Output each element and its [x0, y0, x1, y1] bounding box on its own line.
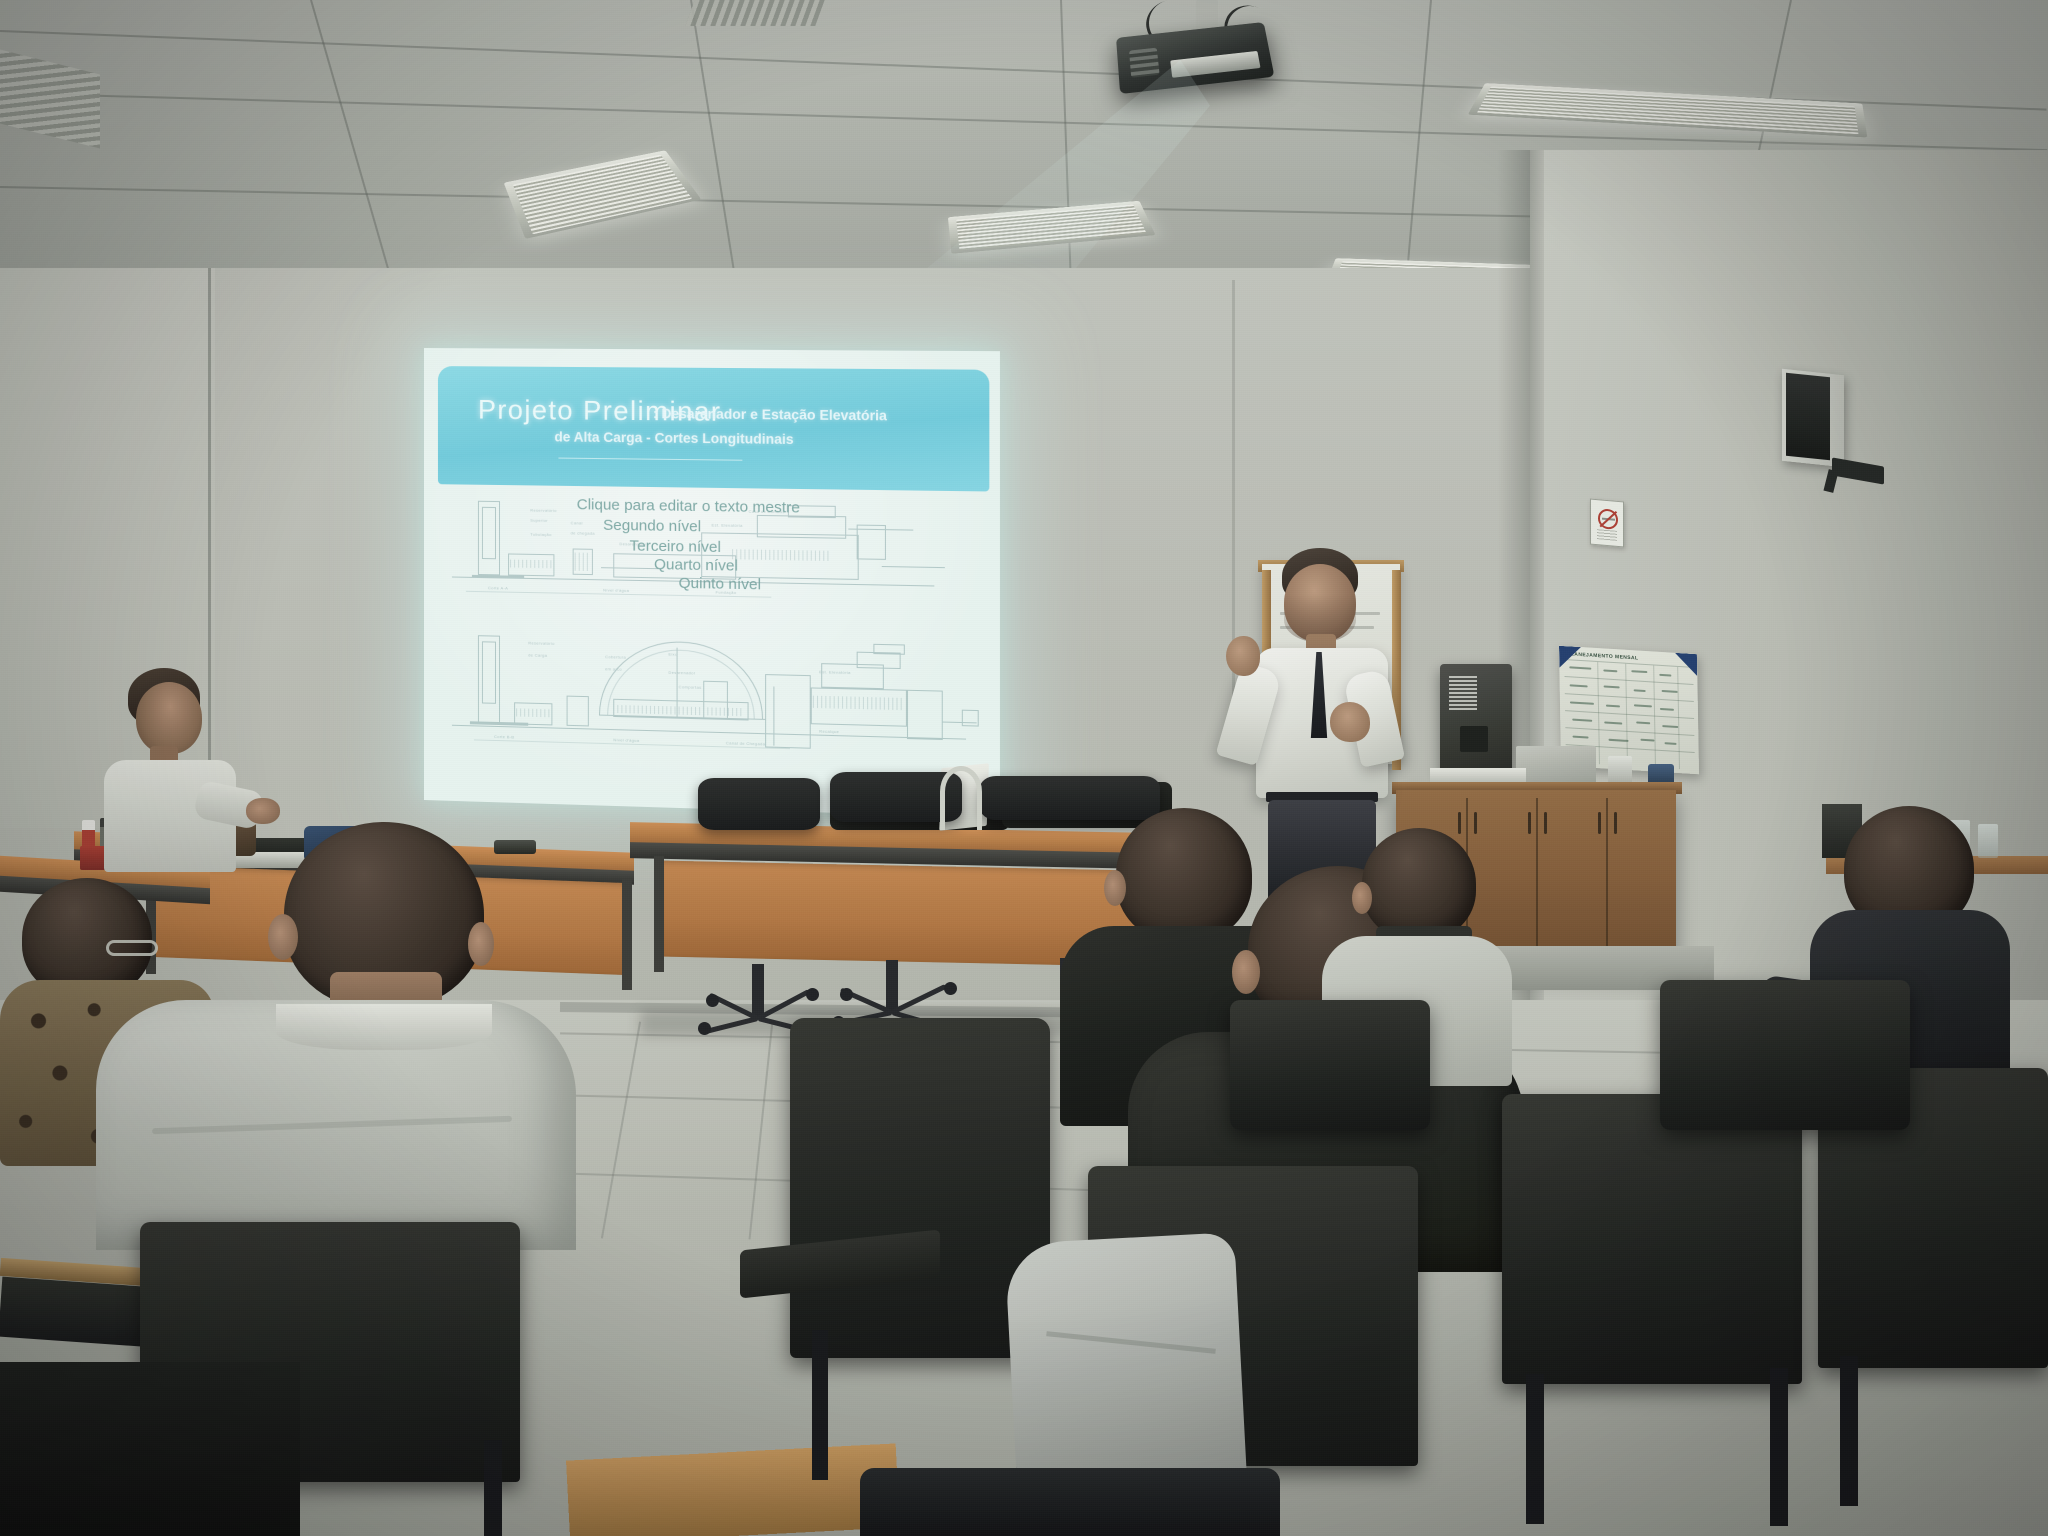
audience-chair-leg [1840, 1356, 1858, 1506]
audience-chair[interactable] [1230, 1000, 1430, 1130]
projector-panel [1170, 51, 1260, 78]
slide-subtitle-line-1: : Desarenador e Estação Elevatória [653, 406, 887, 423]
cabinet-handle[interactable] [1528, 812, 1531, 834]
slide-placeholder-level-5: Quinto nível [679, 575, 761, 594]
conference-room-photo: Projeto Preliminar : Desarenador e Estaç… [0, 0, 2048, 1536]
chair-caster [840, 988, 853, 1001]
chair-caster [706, 994, 719, 1007]
audience-chair[interactable] [1502, 1094, 1802, 1384]
cabinet-handle[interactable] [1614, 812, 1617, 834]
attendee-front-grey-shirt [96, 822, 576, 1242]
no-smoking-sign [1590, 499, 1624, 548]
attendee-hand [246, 798, 280, 824]
wall-speaker-grille [1786, 373, 1830, 461]
presenter-right-hand [1226, 636, 1260, 676]
audience-chair-leg [1770, 1368, 1788, 1526]
office-chair-post [886, 960, 898, 1012]
desk-leg [622, 878, 632, 990]
slide-placeholder-level-4: Quarto nível [654, 556, 738, 575]
attendee-ear [1232, 950, 1260, 994]
attendee-head [1362, 828, 1476, 940]
dispenser-spout[interactable] [1460, 726, 1488, 752]
desk-leg [654, 856, 664, 972]
sign-caption-lines [1597, 529, 1617, 541]
audience-chair-leg [812, 1330, 828, 1480]
slide-placeholder-level-1: Clique para editar o texto mestre [577, 496, 800, 516]
foreground-dark-mass [0, 1362, 300, 1536]
office-chair-post [752, 964, 764, 1018]
attendee-ear [1104, 870, 1126, 906]
attendee-ear [268, 914, 298, 960]
slide-title-band: Projeto Preliminar : Desarenador e Estaç… [438, 366, 989, 491]
chair-caster [806, 988, 819, 1001]
audience-chair[interactable] [1660, 980, 1910, 1130]
attendee-shirt-collar [276, 1004, 492, 1050]
projection-screen: Projeto Preliminar : Desarenador e Estaç… [424, 348, 1000, 818]
slide-title-rule [558, 458, 742, 461]
dispenser-label [1449, 676, 1477, 710]
slide-subtitle-line-2: de Alta Carga - Cortes Longitudinais [554, 429, 793, 447]
audience-chair-leg [1526, 1374, 1544, 1524]
technical-drawing-lower: Reservatório de Carga Cobertura em arco … [452, 621, 977, 776]
cabinet-top-clutter [1516, 746, 1596, 786]
cabinet-handle[interactable] [1598, 812, 1601, 834]
attendee-ear [1352, 882, 1372, 914]
slide-body: Reservatório Superior Tubulação Canal de… [424, 488, 1000, 818]
chair-caster [944, 982, 957, 995]
foreground-dark-mass-right [860, 1468, 1280, 1536]
wooden-table-front [566, 1443, 900, 1536]
chair-caster [698, 1022, 711, 1035]
presenter-left-hand [1330, 702, 1370, 742]
attendee-ear [468, 922, 494, 966]
slide-placeholder-level-2: Segundo nível [603, 517, 701, 536]
paper-holder [940, 766, 982, 830]
cabinet-handle[interactable] [1544, 812, 1547, 834]
office-chair-back[interactable] [698, 778, 820, 830]
attendee-head [136, 682, 202, 754]
slide-placeholder-level-3: Terceiro nível [630, 537, 721, 556]
audience-chair-leg [484, 1440, 502, 1536]
ceiling-air-vent [685, 0, 824, 26]
projector-lens [1129, 48, 1159, 78]
